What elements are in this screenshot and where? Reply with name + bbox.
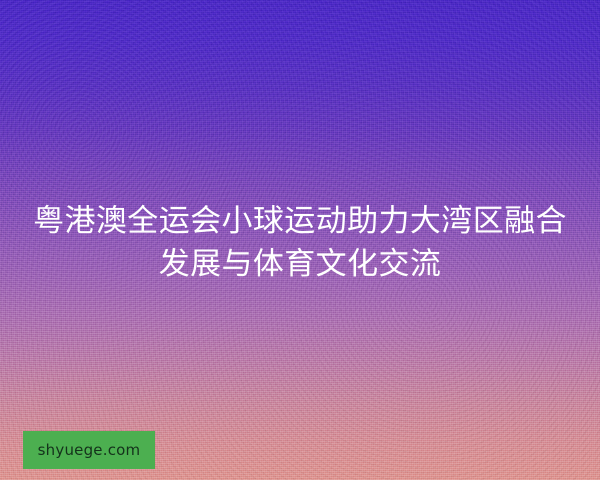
watermark-label: shyuege.com	[38, 443, 141, 458]
watermark-badge: shyuege.com	[23, 431, 155, 469]
headline-title: 粤港澳全运会小球运动助力大湾区融合发展与体育文化交流	[0, 200, 600, 286]
image-canvas: 粤港澳全运会小球运动助力大湾区融合发展与体育文化交流 shyuege.com	[0, 0, 600, 480]
